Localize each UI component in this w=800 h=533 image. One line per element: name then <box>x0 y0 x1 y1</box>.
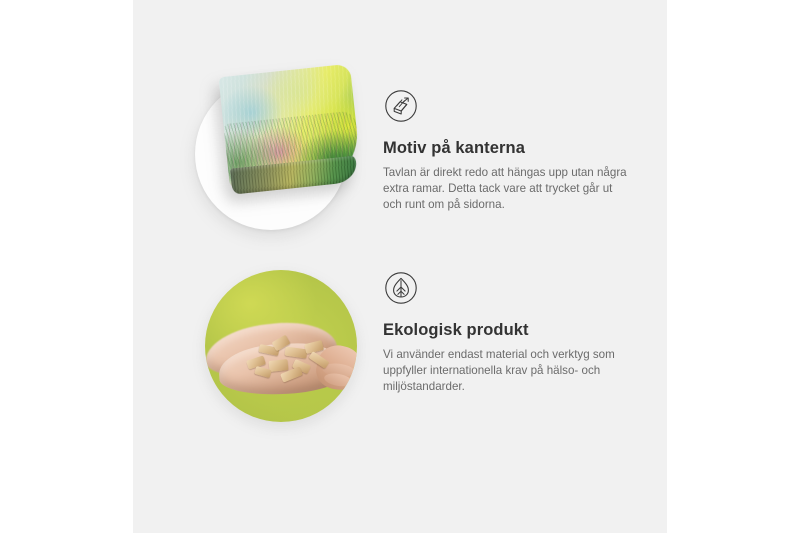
feature-title: Motiv på kanterna <box>383 138 653 158</box>
hands-holding-wood-chips-photo <box>205 270 357 422</box>
product-feature-infographic: Motiv på kanterna Tavlan är direkt redo … <box>0 0 800 533</box>
canvas-print-corner-photo <box>195 78 347 230</box>
leaf-icon <box>383 270 419 306</box>
feature-title: Ekologisk produkt <box>383 320 653 340</box>
feature-block-motiv-pa-kanterna: Motiv på kanterna Tavlan är direkt redo … <box>133 60 667 260</box>
feature-copy-ekologisk-produkt: Ekologisk produkt Vi använder endast mat… <box>383 270 653 396</box>
feature-description: Tavlan är direkt redo att hängas upp uta… <box>383 165 631 214</box>
hands-illustration <box>205 318 357 400</box>
green-field-backdrop <box>205 270 357 422</box>
wood-chips-pile <box>243 336 329 384</box>
wood-chip <box>268 359 288 372</box>
content-panel: Motiv på kanterna Tavlan är direkt redo … <box>133 0 667 533</box>
canvas-print-block <box>218 63 367 208</box>
feature-description: Vi använder endast material och verktyg … <box>383 347 631 396</box>
wood-chip <box>308 351 329 369</box>
feature-block-ekologisk-produkt: Ekologisk produkt Vi använder endast mat… <box>133 248 667 448</box>
feature-copy-motiv-pa-kanterna: Motiv på kanterna Tavlan är direkt redo … <box>383 88 653 214</box>
canvas-wrapped-edge-icon <box>383 88 419 124</box>
